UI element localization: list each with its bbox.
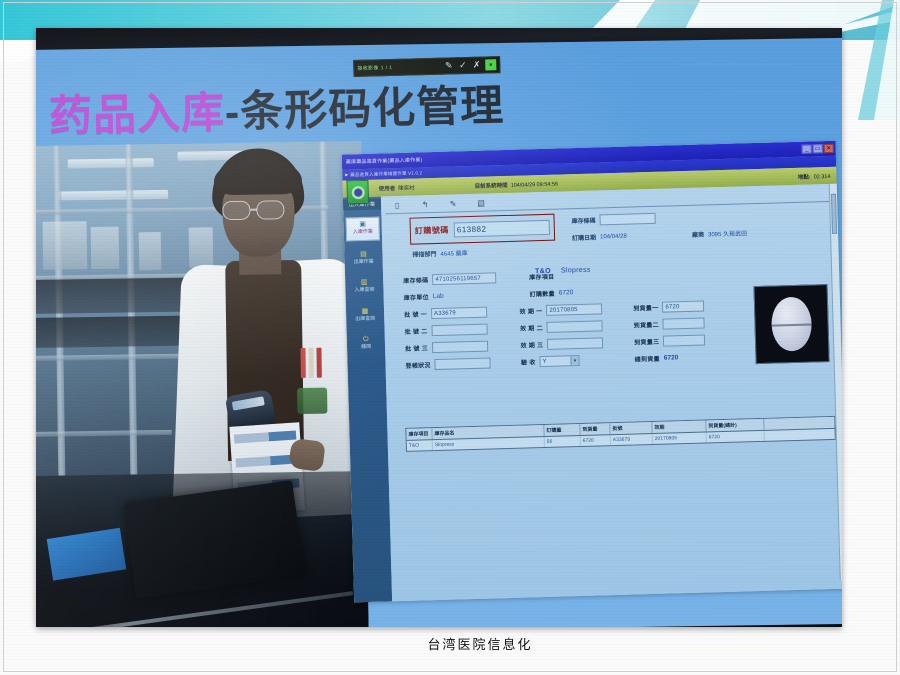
slide-paper-texture <box>0 0 900 675</box>
slide-root: 接收影像 1 / 1 ✎ ✓ ✗ ▪ 药品入库-条形码化管理 <box>0 0 900 675</box>
